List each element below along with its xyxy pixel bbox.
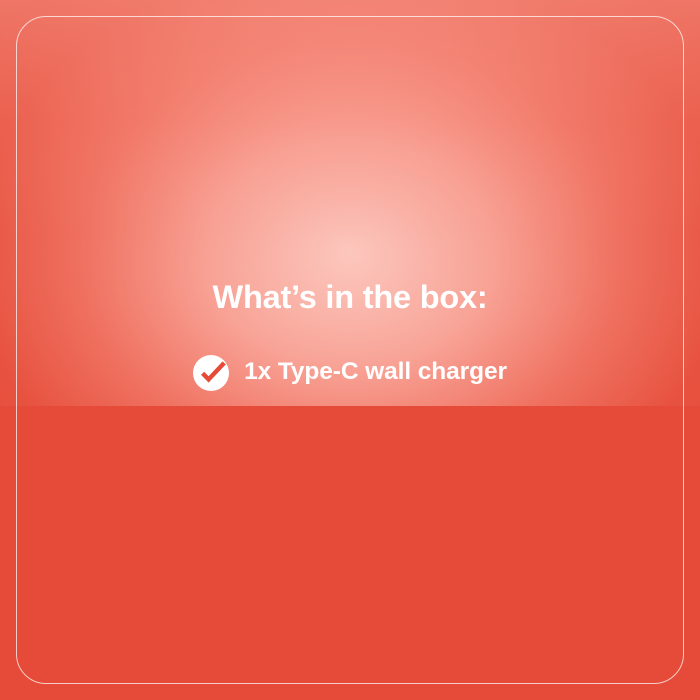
box-contents-list: 1x Type-C wall charger <box>193 355 507 391</box>
check-circle-icon <box>193 355 229 391</box>
product-box-contents-card: What’s in the box: 1x Type-C wall charge… <box>0 0 700 700</box>
list-item: 1x Type-C wall charger <box>193 355 507 391</box>
list-item-label: 1x Type-C wall charger <box>244 360 507 385</box>
page-title: What’s in the box: <box>212 281 487 314</box>
card-content: What’s in the box: 1x Type-C wall charge… <box>0 0 700 700</box>
